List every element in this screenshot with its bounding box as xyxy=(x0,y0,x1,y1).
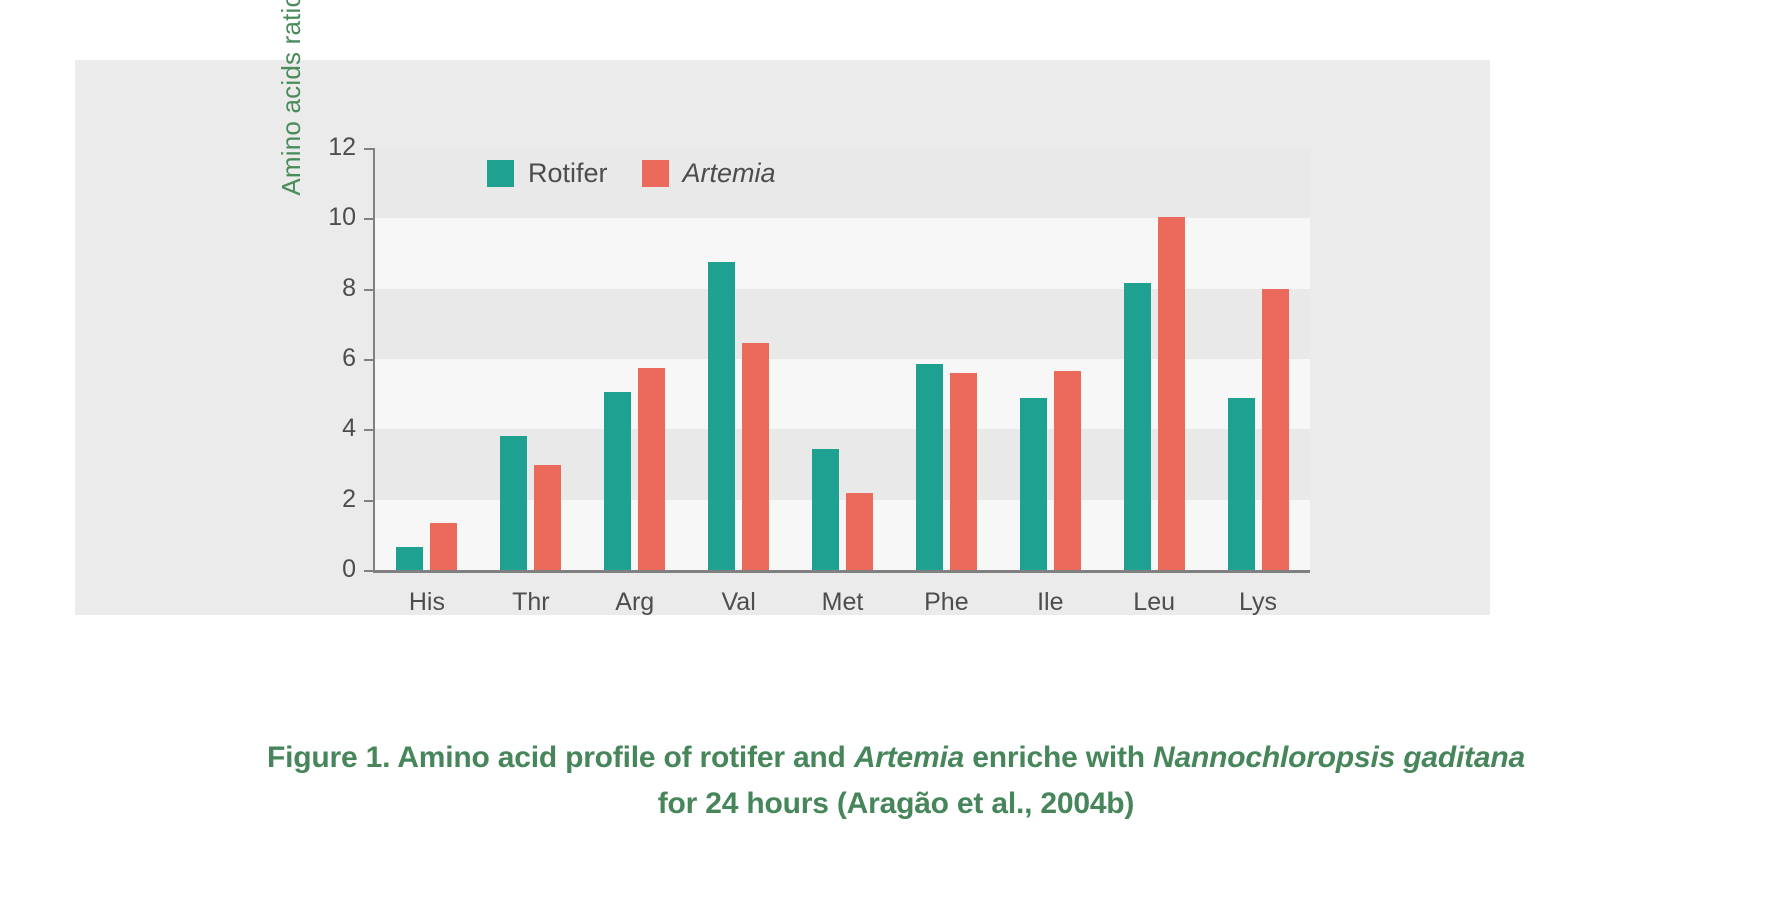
bar-his-artemia xyxy=(430,523,457,570)
legend-swatch-icon xyxy=(487,160,514,187)
y-axis-tick-mark xyxy=(364,500,373,502)
x-axis-tick-label: Ile xyxy=(990,588,1110,616)
chart-legend: RotiferArtemia xyxy=(487,160,776,187)
bar-phe-rotifer xyxy=(916,364,943,570)
bar-ile-rotifer xyxy=(1020,398,1047,570)
y-axis-tick-labels: 121086420 xyxy=(290,0,356,600)
y-axis-tick-mark xyxy=(364,148,373,150)
bar-met-artemia xyxy=(846,493,873,570)
y-axis-tick-mark xyxy=(364,570,373,572)
x-axis-tick-label: Val xyxy=(679,588,799,616)
y-axis-tick-mark xyxy=(364,429,373,431)
bar-arg-rotifer xyxy=(604,392,631,570)
bar-thr-artemia xyxy=(534,465,561,571)
y-axis-tick-label: 4 xyxy=(296,416,356,441)
bar-ile-artemia xyxy=(1054,371,1081,570)
bar-leu-rotifer xyxy=(1124,283,1151,570)
legend-label: Rotifer xyxy=(528,160,608,187)
y-axis-tick-label: 12 xyxy=(296,135,356,160)
bar-phe-artemia xyxy=(950,373,977,570)
y-axis-tick-label: 6 xyxy=(296,346,356,371)
bar-val-artemia xyxy=(742,343,769,570)
y-axis-tick-label: 10 xyxy=(296,205,356,230)
bar-leu-artemia xyxy=(1158,217,1185,570)
x-axis-tick-label: Met xyxy=(783,588,903,616)
caption-middle: enriche with xyxy=(964,741,1153,774)
bar-lys-rotifer xyxy=(1228,398,1255,570)
legend-swatch-icon xyxy=(642,160,669,187)
caption-species-artemia: Artemia xyxy=(854,741,964,774)
y-axis-tick-label: 8 xyxy=(296,276,356,301)
caption-prefix: Figure 1. Amino acid profile of rotifer … xyxy=(267,741,854,774)
bar-arg-artemia xyxy=(638,368,665,570)
y-axis-tick-label: 2 xyxy=(296,487,356,512)
bar-val-rotifer xyxy=(708,262,735,570)
y-axis-tick-mark xyxy=(364,359,373,361)
y-axis-line xyxy=(373,148,375,572)
y-axis-tick-mark xyxy=(364,218,373,220)
x-axis-tick-label: Arg xyxy=(575,588,695,616)
x-axis-tick-label: Thr xyxy=(471,588,591,616)
x-axis-tick-label: Lys xyxy=(1198,588,1318,616)
x-axis-tick-label: His xyxy=(367,588,487,616)
legend-entry-artemia[interactable]: Artemia xyxy=(642,160,776,187)
caption-line-1: Figure 1. Amino acid profile of rotifer … xyxy=(267,741,1525,774)
bar-thr-rotifer xyxy=(500,436,527,570)
figure-caption: Figure 1. Amino acid profile of rotifer … xyxy=(0,735,1792,827)
x-axis-tick-label: Leu xyxy=(1094,588,1214,616)
caption-species-nannochloropsis: Nannochloropsis gaditana xyxy=(1153,741,1525,774)
caption-line-2: for 24 hours (Aragão et al., 2004b) xyxy=(658,787,1134,820)
x-axis-line xyxy=(373,570,1310,573)
figure-container: Amino acids ratio (%) 121086420 HisThrAr… xyxy=(0,0,1792,911)
y-axis-tick-label: 0 xyxy=(296,557,356,582)
bar-met-rotifer xyxy=(812,449,839,570)
legend-entry-rotifer[interactable]: Rotifer xyxy=(487,160,608,187)
legend-label: Artemia xyxy=(683,160,776,187)
x-axis-tick-label: Phe xyxy=(886,588,1006,616)
y-axis-tick-mark xyxy=(364,289,373,291)
bar-lys-artemia xyxy=(1262,289,1289,570)
bar-his-rotifer xyxy=(396,547,423,570)
